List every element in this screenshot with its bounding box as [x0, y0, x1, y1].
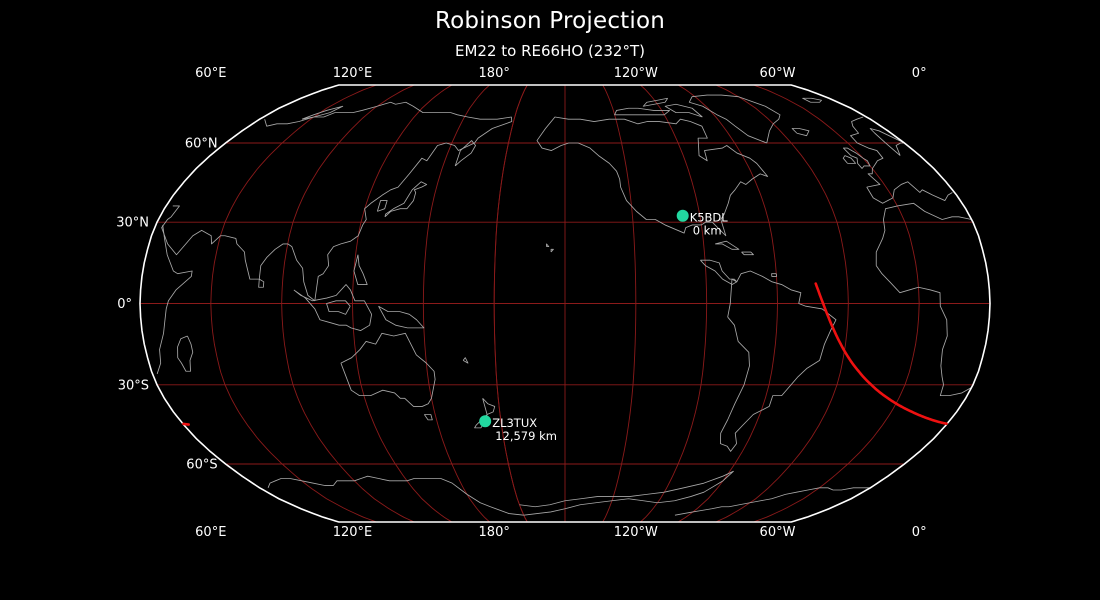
coastline-segment: [520, 471, 734, 515]
axis-tick-labels: 60°E60°E120°E120°E180°180°120°W120°W60°W…: [116, 66, 926, 540]
coastline-segment: [157, 225, 192, 374]
coastline-segment: [268, 476, 524, 515]
graticule-layer: [140, 85, 990, 522]
coastline-segment: [715, 241, 739, 249]
coastline-segment: [551, 249, 553, 252]
coastline-segment: [537, 117, 768, 236]
station-marker[interactable]: ZL3TUX12,579 km: [479, 415, 557, 443]
coastline-segment: [870, 128, 904, 155]
station-distance-label: 0 km: [693, 224, 722, 238]
station-callsign-label: ZL3TUX: [492, 416, 537, 430]
longitude-tick-label: 120°E: [333, 525, 373, 540]
coastline-segment: [876, 203, 971, 265]
longitude-tick-label: 180°: [479, 525, 510, 540]
latitude-tick-label: 30°N: [116, 216, 149, 231]
longitude-tick-label: 60°E: [195, 525, 226, 540]
longitude-tick-label: 60°W: [760, 525, 796, 540]
coastline-segment: [867, 182, 953, 204]
coastline-segment: [876, 266, 971, 396]
station-dot[interactable]: [677, 210, 689, 222]
coastline-segment: [178, 336, 193, 371]
longitude-tick-label: 120°W: [614, 525, 658, 540]
robinson-projection-map: K5BDL0 kmZL3TUX12,579 km 60°E60°E120°E12…: [0, 0, 1100, 600]
map-canvas: Robinson Projection EM22 to RE66HO (232°…: [0, 0, 1100, 600]
longitude-tick-label: 120°E: [333, 66, 373, 81]
latitude-tick-label: 60°N: [185, 137, 218, 152]
coastline-segment: [772, 274, 777, 277]
coastline-segment: [162, 102, 512, 301]
coastline-segment: [377, 201, 387, 212]
coastline-segment: [294, 285, 372, 331]
longitude-tick-label: 180°: [479, 66, 510, 81]
coastline-segment: [424, 415, 432, 420]
longitude-tick-label: 120°W: [614, 66, 658, 81]
coastline-segment: [742, 252, 754, 255]
longitude-tick-label: 0°: [912, 525, 927, 540]
coastline-segment: [259, 279, 264, 287]
coastline-segment: [327, 301, 351, 315]
latitude-tick-label: 60°S: [186, 458, 217, 473]
station-distance-label: 12,579 km: [495, 429, 557, 443]
coastline-segment: [463, 358, 468, 363]
path-segment: [816, 284, 947, 424]
station-dot[interactable]: [479, 415, 491, 427]
station-callsign-label: K5BDL: [690, 211, 729, 225]
coastline-segment: [385, 182, 427, 217]
coastline-segment: [792, 128, 809, 135]
latitude-tick-label: 30°S: [118, 378, 149, 393]
longitude-tick-label: 60°W: [760, 66, 796, 81]
coastline-segment: [546, 244, 548, 247]
coastline-layer: [157, 95, 971, 515]
coastline-segment: [689, 95, 780, 143]
longitude-tick-label: 0°: [912, 66, 927, 81]
coastline-segment: [354, 255, 367, 285]
station-markers-layer: K5BDL0 kmZL3TUX12,579 km: [479, 210, 728, 444]
path-segment: [183, 424, 188, 425]
longitude-tick-label: 60°E: [195, 66, 226, 81]
coastline-segment: [665, 104, 702, 117]
station-marker[interactable]: K5BDL0 km: [677, 210, 729, 238]
coastline-segment: [803, 98, 822, 102]
coastline-segment: [379, 306, 424, 328]
latitude-tick-label: 0°: [117, 297, 132, 312]
coastline-segment: [720, 271, 836, 451]
